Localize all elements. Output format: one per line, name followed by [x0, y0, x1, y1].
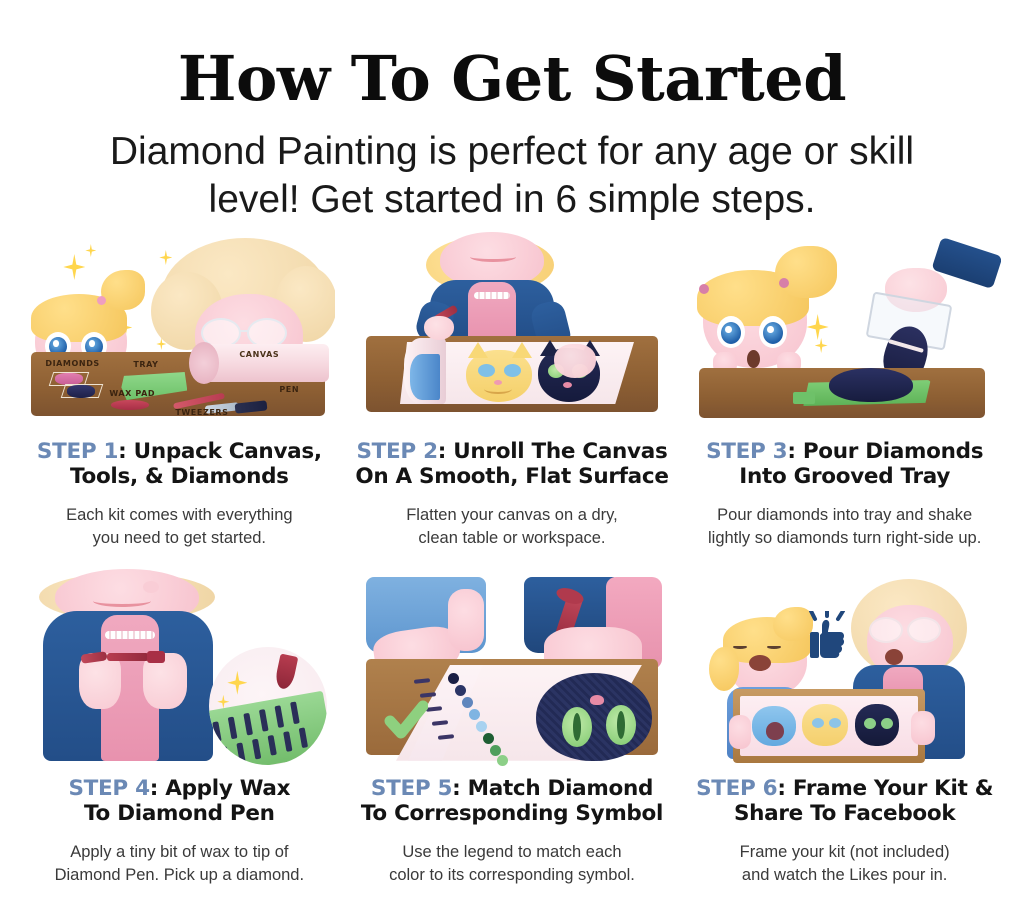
girl-eye-closed — [767, 645, 781, 649]
grandmother-hand — [911, 711, 935, 745]
step-1-heading-line-1: Unpack Canvas, — [134, 439, 322, 464]
glasses-bridge — [240, 330, 249, 332]
step-3-separator: : — [787, 439, 795, 464]
zoom-pen-tip — [274, 653, 299, 690]
sparkle-icon — [85, 244, 96, 257]
cat-nose — [563, 382, 572, 388]
step-4-desc-line-2: Diamond Pen. Pick up a diamond. — [20, 864, 338, 887]
hair-tie — [779, 278, 789, 288]
grandmother-nose — [143, 581, 159, 593]
step-2-description: Flatten your canvas on a dry, clean tabl… — [353, 504, 671, 551]
step-5-description: Use the legend to match each color to it… — [353, 841, 671, 888]
step-4-number: STEP 4 — [68, 776, 149, 801]
sparkle-icon — [815, 338, 828, 353]
step-3-heading-line-1: Pour Diamonds — [803, 439, 983, 464]
glasses-lens-left — [869, 617, 903, 643]
framed-cat-navy-eye-right — [881, 718, 893, 729]
cat-ear-right — [512, 342, 532, 358]
tray-spout — [793, 392, 815, 404]
step-6-number: STEP 6 — [696, 776, 777, 801]
grandmother-smile — [93, 595, 151, 607]
step-5-heading-line-2: To Corresponding Symbol — [361, 801, 663, 826]
cat-ear-left — [468, 342, 488, 358]
step-3-desc-line-1: Pour diamonds into tray and shake — [686, 504, 1004, 527]
step-5-heading-line-1: Match Diamond — [468, 776, 653, 801]
step-1-desc-line-1: Each kit comes with everything — [20, 504, 338, 527]
grandmother-shirt — [468, 282, 516, 342]
step-2-number: STEP 2 — [357, 439, 438, 464]
label-tray: TRAY — [133, 360, 158, 369]
step-card-2: STEP 2: Unroll The Canvas On A Smooth, F… — [351, 232, 674, 551]
step-6-heading-line-2: Share To Facebook — [734, 801, 955, 826]
thumbs-up-icon — [805, 611, 851, 663]
legend-color-dot — [483, 733, 494, 744]
diamond-pile-navy — [67, 385, 95, 398]
step-2-desc-line-1: Flatten your canvas on a dry, — [353, 504, 671, 527]
hair-tie — [699, 284, 709, 294]
step-2-heading-line-1: Unroll The Canvas — [453, 439, 667, 464]
checkmark-icon — [384, 699, 428, 743]
glasses-lens-right — [907, 617, 941, 643]
sparkle-icon — [159, 250, 172, 265]
step-3-desc-line-2: lightly so diamonds turn right-side up. — [686, 527, 1004, 550]
step-3-illustration — [689, 232, 1001, 432]
diamond-pen-shaft — [107, 653, 149, 661]
legend-color-dot — [462, 697, 473, 708]
step-card-4: STEP 4: Apply Wax To Diamond Pen Apply a… — [18, 569, 341, 888]
step-6-separator: : — [777, 776, 785, 801]
canvas-curl-inner — [410, 354, 440, 400]
label-pen: PEN — [279, 385, 299, 394]
step-4-illustration — [23, 569, 335, 769]
person-arm — [448, 589, 484, 651]
step-4-heading-line-1: Apply Wax — [165, 776, 290, 801]
step-card-3: STEP 3: Pour Diamonds Into Grooved Tray … — [683, 232, 1006, 551]
step-5-desc-line-1: Use the legend to match each — [353, 841, 671, 864]
step-2-heading: STEP 2: Unroll The Canvas On A Smooth, F… — [352, 440, 672, 490]
girl-ponytail — [775, 246, 837, 298]
girl-eye-left — [717, 316, 745, 348]
header: How To Get Started Diamond Painting is p… — [0, 0, 1024, 223]
step-2-illustration — [356, 232, 668, 432]
step-1-heading-line-2: Tools, & Diamonds — [70, 464, 289, 489]
cat-nose — [590, 695, 604, 705]
step-6-desc-line-2: and watch the Likes pour in. — [686, 864, 1004, 887]
framed-cat-yellow — [802, 704, 848, 746]
step-6-heading-line-1: Frame Your Kit & — [793, 776, 993, 801]
step-5-illustration — [356, 569, 668, 769]
step-5-number: STEP 5 — [371, 776, 452, 801]
legend-color-dot — [476, 721, 487, 732]
pearl-necklace — [474, 292, 510, 299]
framed-cat-navy-eye-left — [864, 718, 876, 729]
step-1-illustration: DIAMONDS TRAY CANVAS WAX PAD TWEEZERS PE… — [23, 232, 335, 432]
sparkle-icon — [63, 254, 85, 280]
step-1-separator: : — [118, 439, 126, 464]
girl-open-mouth — [749, 655, 771, 671]
girl-ponytail-left — [709, 647, 739, 691]
step-3-number: STEP 3 — [706, 439, 787, 464]
subtitle-line-2: level! Get started in 6 simple steps. — [60, 176, 964, 224]
step-5-desc-line-2: color to its corresponding symbol. — [353, 864, 671, 887]
girl-eye-closed — [733, 645, 747, 649]
step-3-description: Pour diamonds into tray and shake lightl… — [686, 504, 1004, 551]
cat-eye-left — [562, 707, 592, 747]
girl-ponytail — [101, 270, 145, 310]
framed-cat-yellow-eye-right — [829, 718, 841, 728]
page-subtitle: Diamond Painting is perfect for any age … — [0, 128, 1024, 223]
step-1-number: STEP 1 — [37, 439, 118, 464]
label-diamonds: DIAMONDS — [45, 359, 99, 368]
label-canvas: CANVAS — [239, 350, 279, 359]
frame-canvas — [740, 696, 918, 756]
framed-cat-blue-mouth — [766, 722, 784, 740]
grandmother-hand-left — [424, 316, 454, 340]
girl-eye-right — [759, 316, 787, 348]
step-card-5: STEP 5: Match Diamond To Corresponding S… — [351, 569, 674, 888]
pearl-necklace — [105, 631, 155, 639]
step-5-heading: STEP 5: Match Diamond To Corresponding S… — [352, 777, 672, 827]
grandmother-smile — [470, 252, 516, 262]
step-6-desc-line-1: Frame your kit (not included) — [686, 841, 1004, 864]
step-2-separator: : — [438, 439, 446, 464]
step-3-heading-line-2: Into Grooved Tray — [739, 464, 950, 489]
framed-cat-yellow-eye-left — [812, 718, 824, 728]
sparkle-icon — [227, 671, 247, 695]
step-card-6: STEP 6: Frame Your Kit & Share To Facebo… — [683, 569, 1006, 888]
legend-color-dot — [469, 709, 480, 720]
label-wax-pad: WAX PAD — [109, 389, 155, 398]
step-6-heading: STEP 6: Frame Your Kit & Share To Facebo… — [685, 777, 1005, 827]
step-5-separator: : — [452, 776, 460, 801]
page-title: How To Get Started — [0, 48, 1024, 110]
picture-frame — [733, 689, 925, 763]
step-6-description: Frame your kit (not included) and watch … — [686, 841, 1004, 888]
step-3-heading: STEP 3: Pour Diamonds Into Grooved Tray — [685, 440, 1005, 490]
grandmother-hand-right — [554, 344, 596, 378]
cat-eye-right — [606, 705, 636, 745]
subtitle-line-1: Diamond Painting is perfect for any age … — [60, 128, 964, 176]
step-1-heading: STEP 1: Unpack Canvas, Tools, & Diamonds — [19, 440, 339, 490]
sparkle-icon — [807, 314, 829, 340]
step-4-heading: STEP 4: Apply Wax To Diamond Pen — [19, 777, 339, 827]
step-6-illustration — [689, 569, 1001, 769]
girl-open-mouth — [747, 350, 760, 368]
label-tweezers: TWEEZERS — [175, 408, 228, 417]
legend-color-dot — [455, 685, 466, 696]
legend-color-dot — [490, 745, 501, 756]
infographic-page: How To Get Started Diamond Painting is p… — [0, 0, 1024, 923]
steps-grid: DIAMONDS TRAY CANVAS WAX PAD TWEEZERS PE… — [18, 232, 1006, 887]
step-4-description: Apply a tiny bit of wax to tip of Diamon… — [20, 841, 338, 888]
step-1-desc-line-2: you need to get started. — [20, 527, 338, 550]
legend-color-dot — [448, 673, 459, 684]
zoom-inset-circle — [209, 647, 327, 765]
step-2-desc-line-2: clean table or workspace. — [353, 527, 671, 550]
cat-eye-right — [504, 364, 521, 377]
girl-hand — [729, 715, 751, 749]
wax-pad-item — [111, 400, 149, 410]
step-4-separator: : — [150, 776, 158, 801]
step-4-desc-line-1: Apply a tiny bit of wax to tip of — [20, 841, 338, 864]
step-4-heading-line-2: To Diamond Pen — [84, 801, 275, 826]
cat-mouth — [484, 384, 512, 394]
diamond-pile-in-tray — [829, 368, 913, 402]
step-card-1: DIAMONDS TRAY CANVAS WAX PAD TWEEZERS PE… — [18, 232, 341, 551]
legend-color-dot — [497, 755, 508, 766]
cat-eye-left — [478, 364, 495, 377]
wax-pad-held — [147, 651, 165, 663]
step-1-description: Each kit comes with everything you need … — [20, 504, 338, 551]
grandmother-open-mouth — [885, 649, 903, 665]
step-2-heading-line-2: On A Smooth, Flat Surface — [355, 464, 668, 489]
